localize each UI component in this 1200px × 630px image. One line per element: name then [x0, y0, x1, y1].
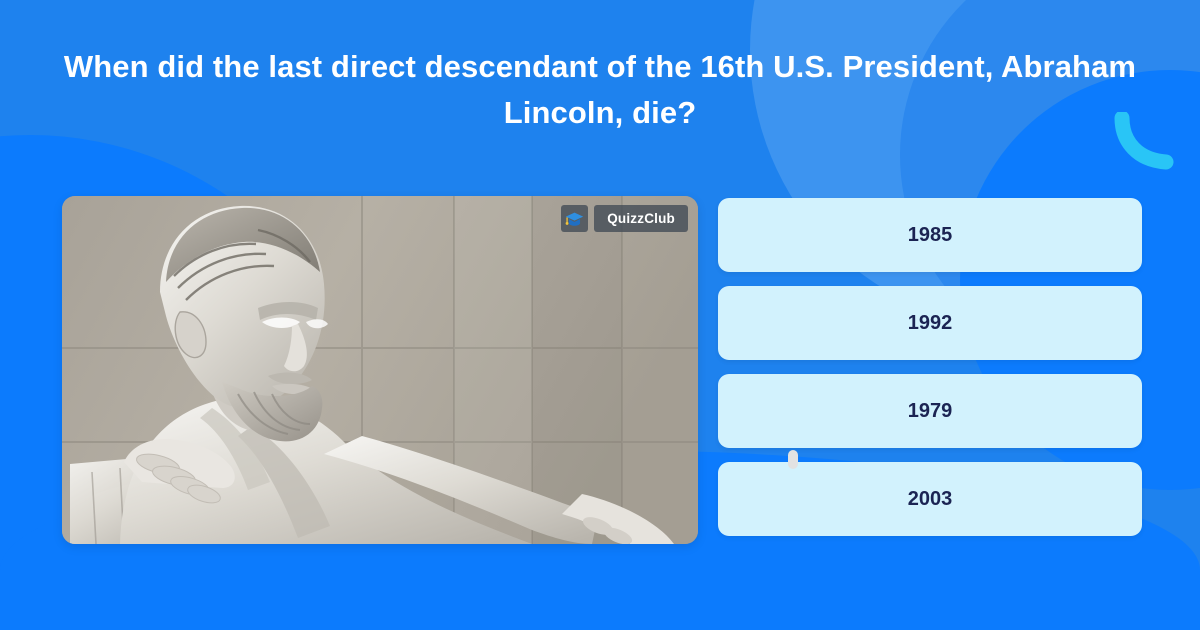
answer-option-2[interactable]: 1992: [718, 286, 1142, 360]
answer-option-3[interactable]: 1979: [718, 374, 1142, 448]
lincoln-statue-photo: [62, 196, 698, 544]
watermark-label: QuizzClub: [594, 205, 688, 232]
scrollbar-thumb[interactable]: [788, 450, 798, 469]
page-title: When did the last direct descendant of t…: [60, 44, 1140, 136]
answer-option-4[interactable]: 2003: [718, 462, 1142, 536]
graduation-cap-icon: [561, 205, 588, 232]
watermark-badge: QuizzClub: [561, 205, 688, 232]
question-image: QuizzClub: [62, 196, 698, 544]
answer-options: 1985 1992 1979 2003: [718, 198, 1142, 536]
answer-option-1[interactable]: 1985: [718, 198, 1142, 272]
quiz-card: When did the last direct descendant of t…: [0, 0, 1200, 630]
